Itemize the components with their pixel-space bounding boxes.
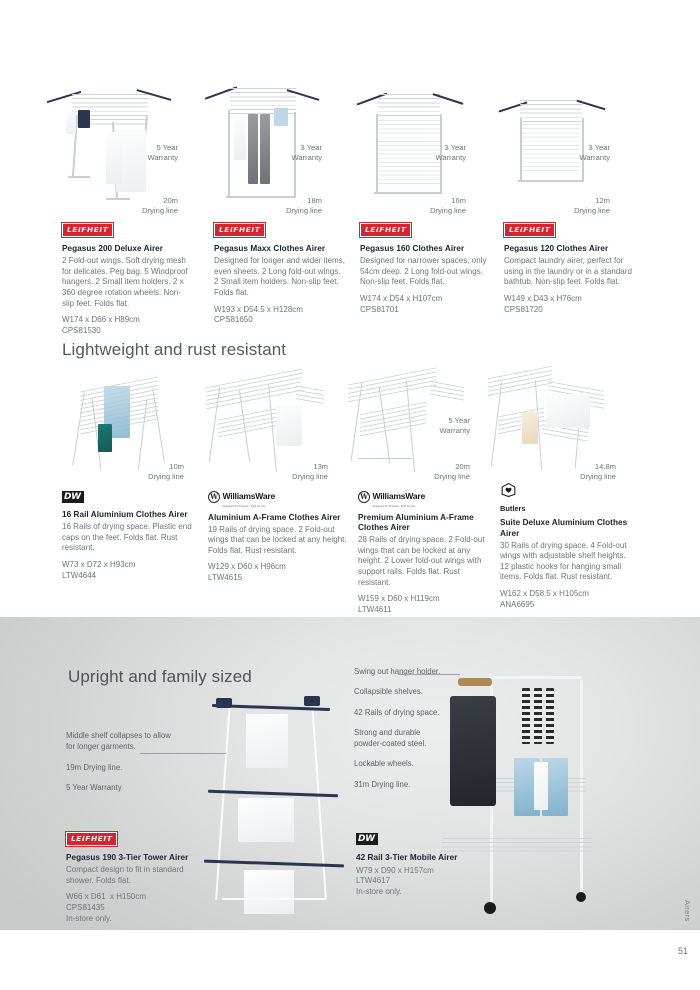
feature-list-42-rail: Swing out hanger holder. Collapsible she…: [354, 666, 450, 799]
feature-item: 31m Drying line.: [354, 779, 450, 790]
drying-line-suite-deluxe: 14.8m Drying line: [560, 462, 616, 483]
product-dimensions-block: W129 x D60 x H96cm LTW4615: [208, 562, 348, 583]
feature-item: 5 Year Warranty: [66, 782, 176, 793]
warranty-badge-3: 3 Year Warranty: [416, 143, 466, 164]
product-dimensions: W162 x D58.5 x H105cm: [500, 589, 632, 600]
product-title: 16 Rail Aluminium Clothes Airer: [62, 510, 192, 521]
product-description: Compact laundry airer, perfect for using…: [504, 256, 634, 288]
brand-logo-leifheit: LEIFHEIT: [214, 223, 265, 237]
product-title: Pegasus 160 Clothes Airer: [360, 244, 490, 255]
feature-item: 42 Rails of drying space.: [354, 707, 450, 718]
warranty-badge-1: 5 Year Warranty: [128, 143, 178, 164]
drying-line-3: 16m Drying line: [410, 196, 466, 217]
brand-logo-dw: DW: [62, 491, 84, 503]
product-dimensions: W174 x D54 x H107cm: [360, 294, 490, 305]
product-code: LTW4611: [358, 605, 490, 616]
brand-logo-leifheit: LEIFHEIT: [360, 223, 411, 237]
product-dimensions-block: W193 x D54.5 x H128cm CPS81650: [214, 305, 346, 326]
product-block-premium-a-frame: W WilliamsWare Designed for Purpose · Bu…: [358, 486, 490, 615]
product-block-pegasus-160: LEIFHEIT Pegasus 160 Clothes Airer Desig…: [360, 219, 490, 315]
product-block-16-rail: DW 16 Rail Aluminium Clothes Airer 16 Ra…: [62, 486, 192, 581]
product-image-pegasus-190-tower: [186, 680, 366, 920]
product-dimensions: W79 x D90 x H157cm: [356, 866, 496, 877]
product-description: 30 Rails of drying space. 4 Fold-out win…: [500, 541, 632, 584]
product-code: LTW4617: [356, 876, 496, 887]
product-description: Designed for narrower spaces, only 54cm …: [360, 256, 490, 288]
product-title: 42 Rail 3-Tier Mobile Airer: [356, 853, 496, 864]
product-block-pegasus-200: LEIFHEIT Pegasus 200 Deluxe Airer 2 Fold…: [62, 219, 192, 336]
product-dimensions-block: W174 x D66 x H89cm CPS81530: [62, 315, 192, 336]
warranty-badge-4: 3 Year Warranty: [560, 143, 610, 164]
product-dimensions-block: W73 x D72 x H93cm LTW4644: [62, 560, 192, 581]
product-block-a-frame: W WilliamsWare Designed for Purpose · Bu…: [208, 486, 348, 584]
feature-item: Swing out hanger holder.: [354, 666, 450, 677]
product-dimensions-block: W149 x D43 x H76cm CPS81720: [504, 294, 634, 315]
product-description: 16 Rails of drying space. Plastic end ca…: [62, 522, 192, 554]
product-dimensions: W73 x D72 x H93cm: [62, 560, 192, 571]
product-title: Aluminium A-Frame Clothes Airer: [208, 513, 348, 524]
product-dimensions-block: W174 x D54 x H107cm CPS81701: [360, 294, 490, 315]
product-block-pegasus-190: LEIFHEIT Pegasus 190 3-Tier Tower Airer …: [66, 828, 198, 924]
product-title: Pegasus Maxx Clothes Airer: [214, 244, 346, 255]
w-ring-icon: W: [358, 491, 370, 503]
product-dimensions-block: W159 x D60 x H119cm LTW4611: [358, 594, 490, 615]
product-title: Suite Deluxe Aluminium Clothes Airer: [500, 518, 632, 539]
product-description: 28 Rails of drying space. 2 Fold-out win…: [358, 535, 490, 588]
product-block-42-rail: DW 42 Rail 3-Tier Mobile Airer W79 x D90…: [356, 828, 496, 897]
feature-list-pegasus-190: Middle shelf collapses to allow for long…: [66, 730, 176, 802]
product-code: CPS81530: [62, 326, 192, 337]
product-description: 19 Rails of drying space. 2 Fold-out win…: [208, 525, 348, 557]
product-code: ANA6695: [500, 600, 632, 611]
product-block-suite-deluxe: Butlers Suite Deluxe Aluminium Clothes A…: [500, 482, 632, 610]
feature-item: Lockable wheels.: [354, 758, 450, 769]
product-dimensions: W159 x D60 x H119cm: [358, 594, 490, 605]
brand-logo-butlers: Butlers: [500, 482, 546, 513]
drying-line-a-frame: 13m Drying line: [272, 462, 328, 483]
product-dimensions: W129 x D60 x H96cm: [208, 562, 348, 573]
product-code: CPS81435: [66, 903, 198, 914]
product-code: CPS81650: [214, 315, 346, 326]
product-description: Designed for longer and wider items, eve…: [214, 256, 346, 299]
feature-item: Strong and durable powder-coated steel.: [354, 727, 450, 750]
drying-line-2: 18m Drying line: [266, 196, 322, 217]
product-description: Compact design to fit in standard shower…: [66, 865, 198, 886]
brand-tagline: Designed for Purpose · Built for Life: [223, 505, 275, 508]
leader-line-middle-shelf: [140, 753, 226, 754]
product-dimensions: W149 x D43 x H76cm: [504, 294, 634, 305]
side-tab-label: Airers: [683, 900, 692, 921]
brand-logo-williamsware: W WilliamsWare Designed for Purpose · Bu…: [208, 486, 348, 508]
product-dimensions-block: W79 x D90 x H157cm LTW4617 In-store only…: [356, 866, 496, 898]
product-dimensions-block: W66 x D61 x H150cm CPS81435 In-store onl…: [66, 892, 198, 924]
leader-line-hanger-holder: [398, 674, 460, 675]
product-block-pegasus-120: LEIFHEIT Pegasus 120 Clothes Airer Compa…: [504, 219, 634, 315]
product-dimensions: W193 x D54.5 x H128cm: [214, 305, 346, 316]
product-dimensions-block: W162 x D58.5 x H105cm ANA6695: [500, 589, 632, 610]
house-heart-icon: [500, 482, 517, 498]
drying-line-1: 20m Drying line: [122, 196, 178, 217]
product-code: LTW4615: [208, 573, 348, 584]
catalog-page: 5 Year Warranty 20m Drying line 3 Year W…: [0, 0, 700, 990]
product-availability: In-store only.: [66, 914, 198, 925]
product-dimensions: W66 x D61 x H150cm: [66, 892, 198, 903]
product-availability: In-store only.: [356, 887, 496, 898]
brand-tagline: Designed for Purpose · Built for Life: [373, 505, 425, 508]
product-block-pegasus-maxx: LEIFHEIT Pegasus Maxx Clothes Airer Desi…: [214, 219, 346, 326]
product-code: CPS81720: [504, 305, 634, 316]
product-title: Pegasus 200 Deluxe Airer: [62, 244, 192, 255]
product-code: LTW4644: [62, 571, 192, 582]
product-dimensions: W174 x D66 x H89cm: [62, 315, 192, 326]
brand-logo-leifheit: LEIFHEIT: [62, 223, 113, 237]
product-title: Pegasus 120 Clothes Airer: [504, 244, 634, 255]
page-number: 51: [678, 946, 688, 956]
product-code: CPS81701: [360, 305, 490, 316]
feature-item: Middle shelf collapses to allow for long…: [66, 730, 176, 753]
section-heading-lightweight: Lightweight and rust resistant: [62, 340, 286, 360]
drying-line-premium: 20m Drying line: [414, 462, 470, 483]
drying-line-16-rail: 10m Drying line: [128, 462, 184, 483]
drying-line-4: 12m Drying line: [554, 196, 610, 217]
brand-logo-dw: DW: [356, 833, 378, 845]
feature-item: 19m Drying line.: [66, 762, 176, 773]
product-image-pegasus-200: [44, 72, 174, 212]
brand-name: WilliamsWare: [373, 491, 425, 501]
product-title: Pegasus 190 3-Tier Tower Airer: [66, 853, 198, 864]
brand-logo-leifheit: LEIFHEIT: [504, 223, 555, 237]
warranty-badge-premium: 5 Year Warranty: [420, 416, 470, 437]
product-description: 2 Fold-out wings. Soft drying mesh for d…: [62, 256, 192, 309]
brand-logo-leifheit: LEIFHEIT: [66, 832, 117, 846]
brand-name: WilliamsWare: [223, 491, 275, 501]
w-ring-icon: W: [208, 491, 220, 503]
warranty-badge-2: 3 Year Warranty: [272, 143, 322, 164]
brand-name: Butlers: [500, 504, 546, 513]
product-title: Premium Aluminium A-Frame Clothes Airer: [358, 513, 490, 534]
brand-logo-williamsware: W WilliamsWare Designed for Purpose · Bu…: [358, 486, 490, 508]
feature-item: Collapsible shelves.: [354, 686, 450, 697]
